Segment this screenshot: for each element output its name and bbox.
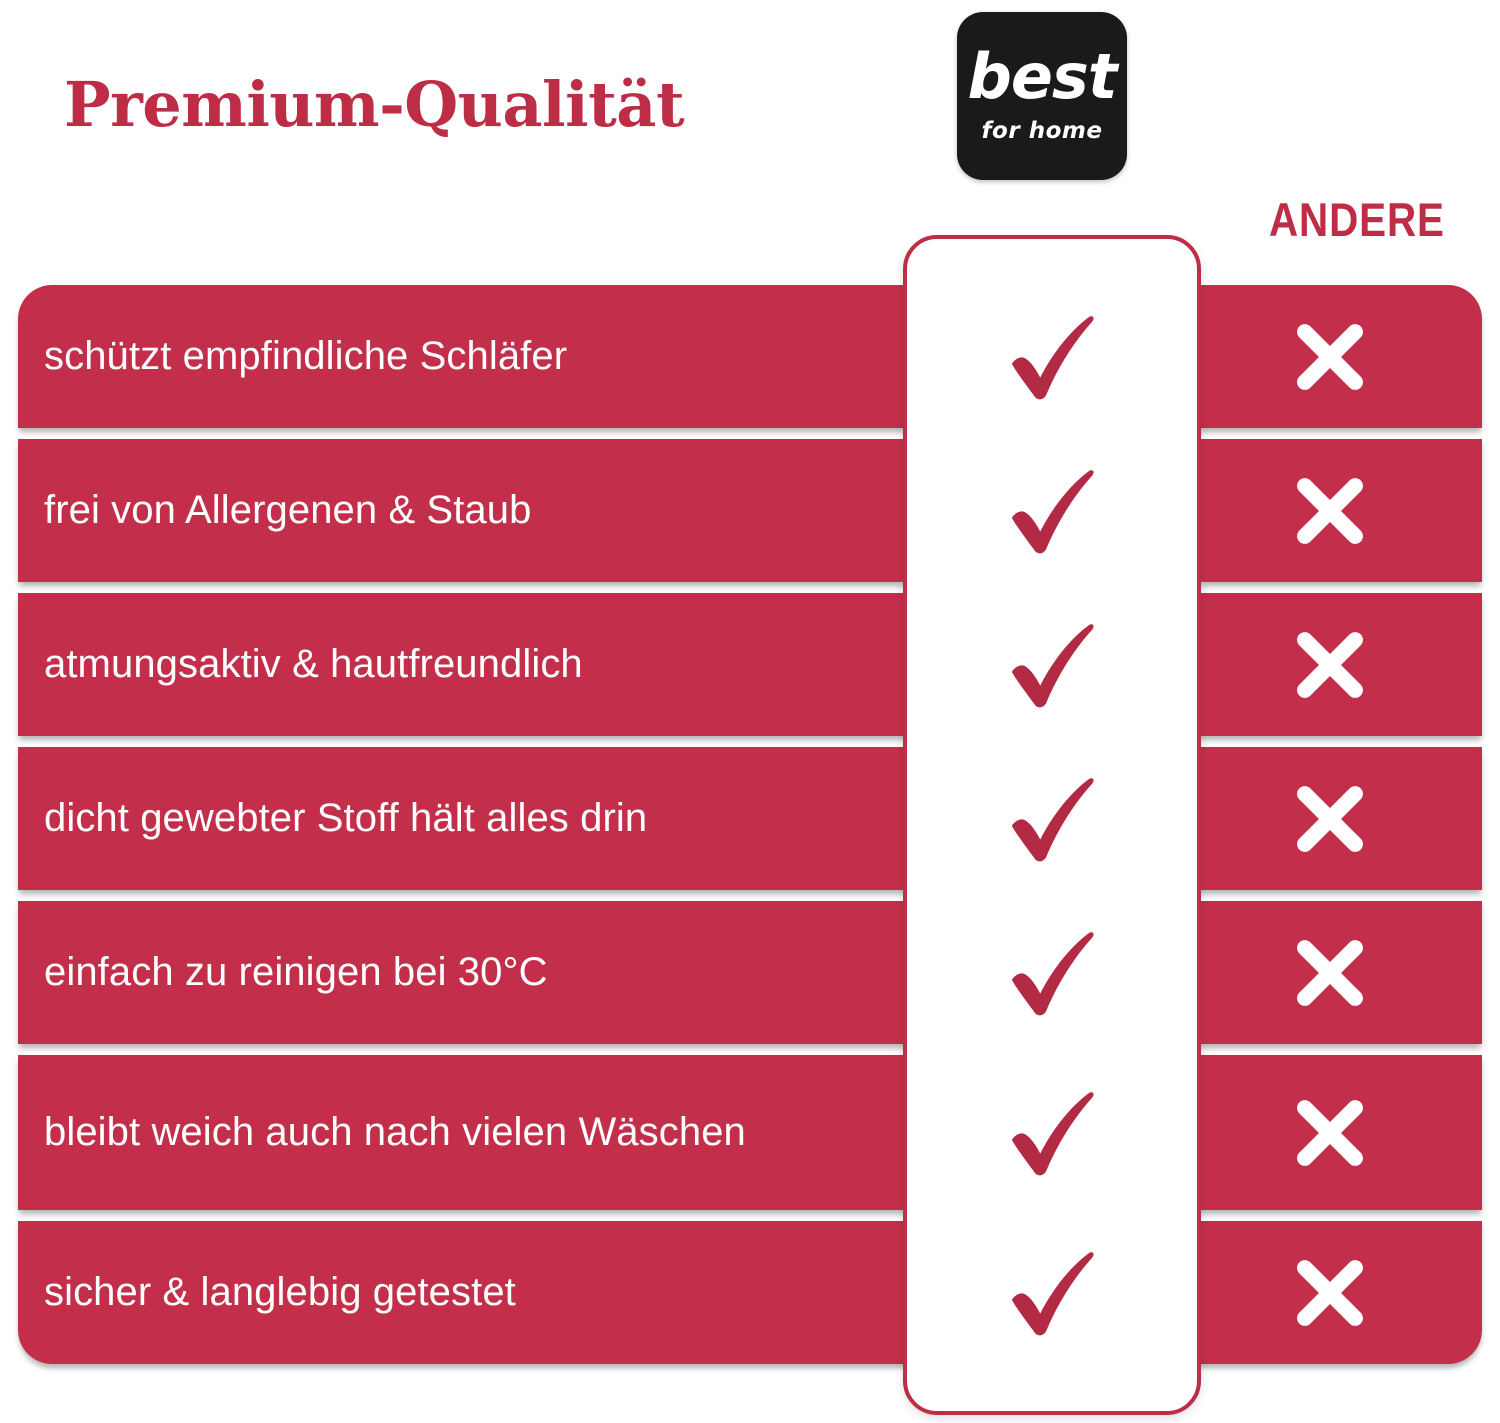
cross-icon [1293,1096,1367,1170]
feature-label: sicher & langlebig getestet [18,1268,878,1317]
table-row: sicher & langlebig getestet [18,1221,1482,1364]
feature-label: bleibt weich auch nach vielen Wäschen [18,1108,878,1157]
feature-label: dicht gewebter Stoff hält alles drin [18,794,878,843]
feature-label: einfach zu reinigen bei 30°C [18,948,878,997]
table-row: schützt empfindliche Schläfer [18,285,1482,428]
column-header-andere: ANDERE [1269,196,1441,243]
feature-label: frei von Allergenen & Staub [18,486,878,535]
logo-primary-text: best [957,46,1127,108]
comparison-infographic: Premium-Qualität best for home ANDERE sc… [0,0,1500,1423]
cross-icon [1293,1256,1367,1330]
cross-icon [1293,936,1367,1010]
brand-column-highlight [903,235,1201,1415]
other-cell [1178,936,1482,1010]
table-row: dicht gewebter Stoff hält alles drin [18,747,1482,890]
table-row: atmungsaktiv & hautfreundlich [18,593,1482,736]
other-cell [1178,628,1482,702]
other-cell [1178,1096,1482,1170]
page-title: Premium-Qualität [64,72,684,137]
cross-icon [1293,320,1367,394]
cross-icon [1293,628,1367,702]
other-cell [1178,1256,1482,1330]
cross-icon [1293,474,1367,548]
feature-label: schützt empfindliche Schläfer [18,332,878,381]
other-cell [1178,474,1482,548]
table-row: bleibt weich auch nach vielen Wäschen [18,1055,1482,1210]
feature-label: atmungsaktiv & hautfreundlich [18,640,878,689]
brand-logo: best for home [957,12,1127,180]
cross-icon [1293,782,1367,856]
other-cell [1178,320,1482,394]
other-cell [1178,782,1482,856]
logo-secondary-text: for home [957,120,1127,143]
table-row: einfach zu reinigen bei 30°C [18,901,1482,1044]
comparison-rows: schützt empfindliche Schläfer frei von A… [18,285,1482,1364]
table-row: frei von Allergenen & Staub [18,439,1482,582]
